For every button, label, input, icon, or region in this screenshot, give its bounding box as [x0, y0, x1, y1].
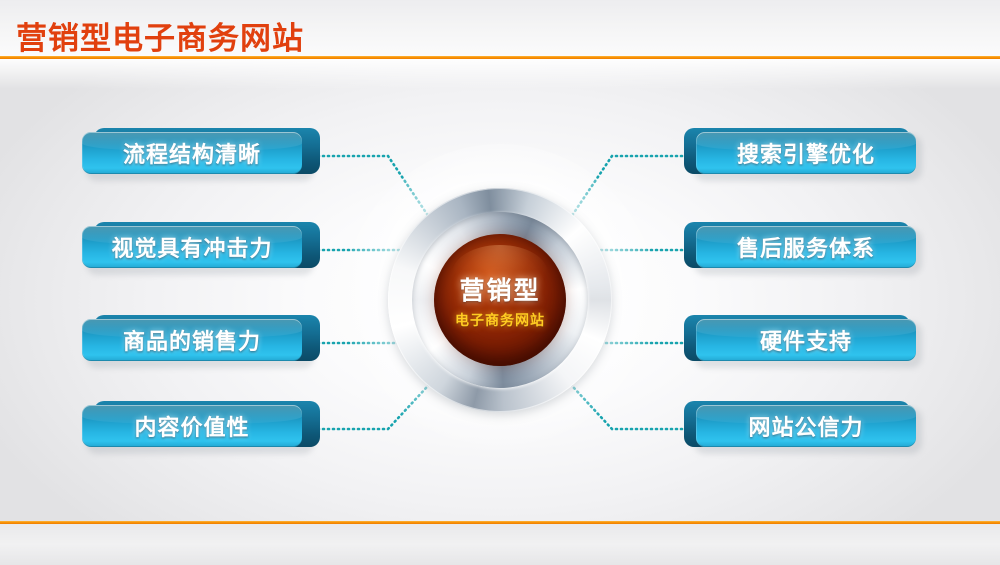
- slide-canvas: 营销型电子商务网站 营销型 电子商务网站 流: [0, 0, 1000, 565]
- pill-face[interactable]: 视觉具有冲击力: [82, 226, 302, 268]
- pill-right-4[interactable]: 网站公信力: [690, 401, 922, 451]
- pill-face[interactable]: 售后服务体系: [696, 226, 916, 268]
- pill-label: 售后服务体系: [696, 231, 916, 263]
- pill-face[interactable]: 网站公信力: [696, 405, 916, 447]
- pill-face[interactable]: 流程结构清晰: [82, 132, 302, 174]
- pill-label: 网站公信力: [696, 410, 916, 442]
- pill-face[interactable]: 硬件支持: [696, 319, 916, 361]
- pill-label: 商品的销售力: [82, 324, 302, 356]
- hub-subtitle: 电子商务网站: [455, 310, 545, 330]
- pill-face[interactable]: 商品的销售力: [82, 319, 302, 361]
- pill-label: 硬件支持: [696, 324, 916, 356]
- center-hub: 营销型 电子商务网站: [388, 188, 612, 412]
- pill-label: 搜索引擎优化: [696, 137, 916, 169]
- pill-left-1[interactable]: 流程结构清晰: [82, 128, 314, 178]
- pill-right-2[interactable]: 售后服务体系: [690, 222, 922, 272]
- pill-right-3[interactable]: 硬件支持: [690, 315, 922, 365]
- pill-face[interactable]: 搜索引擎优化: [696, 132, 916, 174]
- pill-label: 流程结构清晰: [82, 137, 302, 169]
- hub-title: 营销型: [459, 271, 540, 307]
- footer-band: [0, 524, 1000, 565]
- pill-left-3[interactable]: 商品的销售力: [82, 315, 314, 365]
- pill-label: 视觉具有冲击力: [82, 231, 302, 263]
- pill-left-2[interactable]: 视觉具有冲击力: [82, 222, 314, 272]
- pill-face[interactable]: 内容价值性: [82, 405, 302, 447]
- hub-core-sphere: 营销型 电子商务网站: [434, 234, 566, 366]
- pill-right-1[interactable]: 搜索引擎优化: [690, 128, 922, 178]
- pill-left-4[interactable]: 内容价值性: [82, 401, 314, 451]
- pill-label: 内容价值性: [82, 410, 302, 442]
